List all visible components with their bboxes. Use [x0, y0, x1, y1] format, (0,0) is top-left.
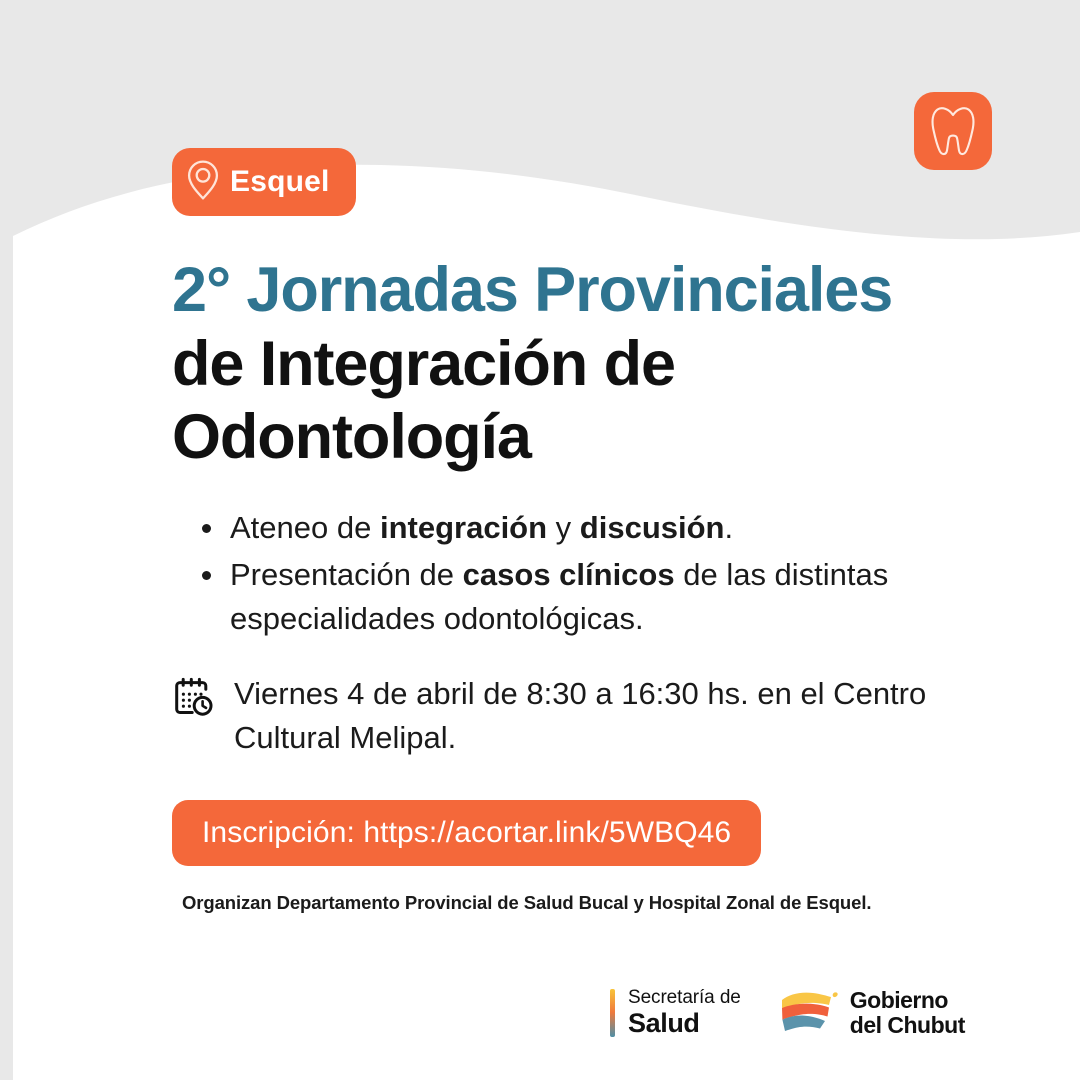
schedule-row: Viernes 4 de abril de 8:30 a 16:30 hs. e…: [172, 672, 932, 760]
inscription-label: Inscripción: https://acortar.link/5WBQ46: [202, 816, 731, 850]
bullet-text-bold-1: integración: [380, 510, 547, 545]
bullet-text-plain-4: Presentación de: [230, 557, 463, 592]
logo-gobierno-line-2: del Chubut: [850, 1013, 965, 1038]
title-line-accent: 2° Jornadas Provinciales: [172, 255, 892, 325]
logo-gobierno-text: Gobierno del Chubut: [850, 988, 965, 1039]
poster-canvas: Esquel 2° Jornadas Provinciales de Integ…: [0, 0, 1080, 1080]
gradient-bar-icon: [610, 989, 615, 1037]
logo-gobierno-del-chubut: Gobierno del Chubut: [779, 988, 965, 1039]
schedule-text: Viernes 4 de abril de 8:30 a 16:30 hs. e…: [234, 672, 932, 760]
map-pin-icon: [186, 159, 220, 206]
page-title: 2° Jornadas Provinciales de Integración …: [172, 254, 952, 475]
chubut-province-icon: [779, 988, 839, 1039]
inscription-link-button[interactable]: Inscripción: https://acortar.link/5WBQ46: [172, 800, 761, 866]
bullet-text-bold-2: discusión: [580, 510, 725, 545]
bullet-text-bold-3: casos clínicos: [463, 557, 675, 592]
organizers-note: Organizan Departamento Provincial de Sal…: [182, 892, 962, 914]
location-badge: Esquel: [172, 148, 356, 216]
calendar-clock-icon: [172, 676, 214, 723]
bullet-text-plain-2: y: [547, 510, 580, 545]
logo-secretaria-text: Secretaría de Salud: [628, 989, 741, 1037]
bullet-text-plain-3: .: [725, 510, 734, 545]
logo-secretaria-de-salud: Secretaría de Salud: [610, 989, 741, 1037]
footer-logos: Secretaría de Salud Gobierno del Chubut: [610, 982, 1010, 1044]
logo-secretaria-line-2: Salud: [628, 1009, 741, 1038]
title-line-2: de Integración de: [172, 329, 675, 399]
bullet-text-plain-1: Ateneo de: [230, 510, 380, 545]
highlights-list: Ateneo de integración y discusión. Prese…: [188, 506, 990, 644]
logo-gobierno-line-1: Gobierno: [850, 988, 965, 1013]
list-item: Ateneo de integración y discusión.: [230, 506, 990, 550]
title-line-3: Odontología: [172, 402, 531, 472]
logo-secretaria-line-1: Secretaría de: [628, 988, 741, 1009]
list-item: Presentación de casos clínicos de las di…: [230, 553, 990, 641]
location-label: Esquel: [230, 165, 330, 199]
content-column: Esquel 2° Jornadas Provinciales de Integ…: [172, 0, 962, 1080]
